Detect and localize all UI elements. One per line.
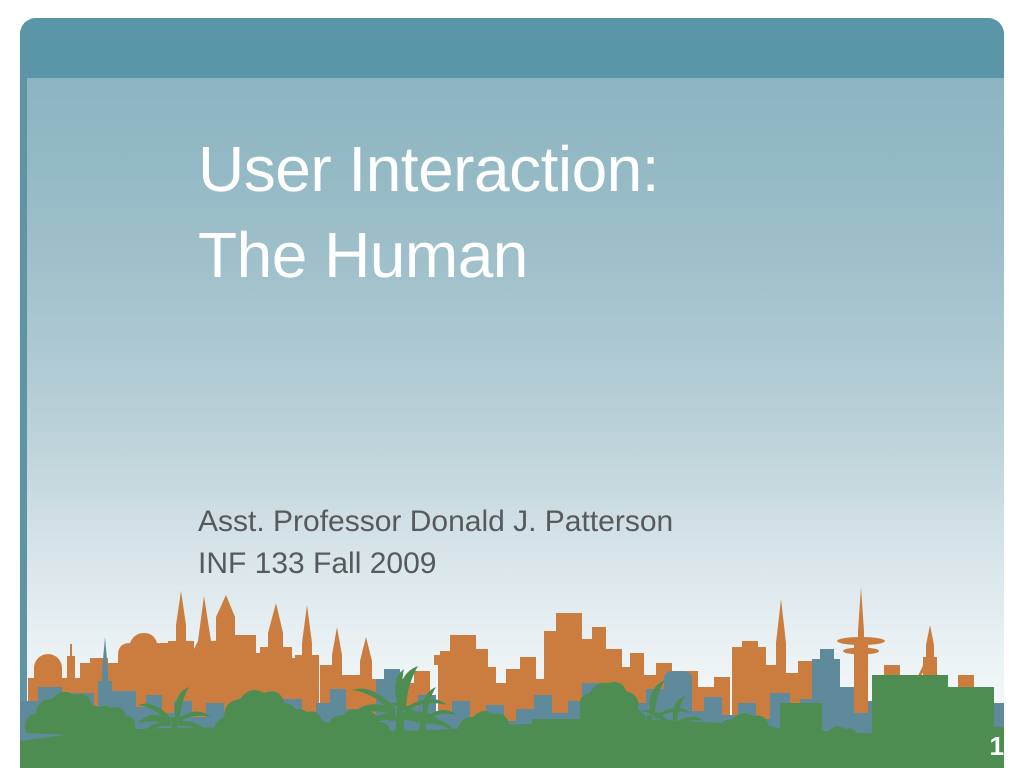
slide-root: User Interaction: The Human Asst. Profes… [0, 0, 1024, 768]
slide-title: User Interaction: The Human [198, 126, 958, 298]
slide-left-rail [20, 18, 27, 768]
slide-card: User Interaction: The Human Asst. Profes… [20, 18, 1004, 768]
slide-number: 1 [964, 731, 1004, 761]
slide-header-band [20, 18, 1004, 78]
slide-subtitle: Asst. Professor Donald J. Patterson INF … [198, 501, 938, 585]
